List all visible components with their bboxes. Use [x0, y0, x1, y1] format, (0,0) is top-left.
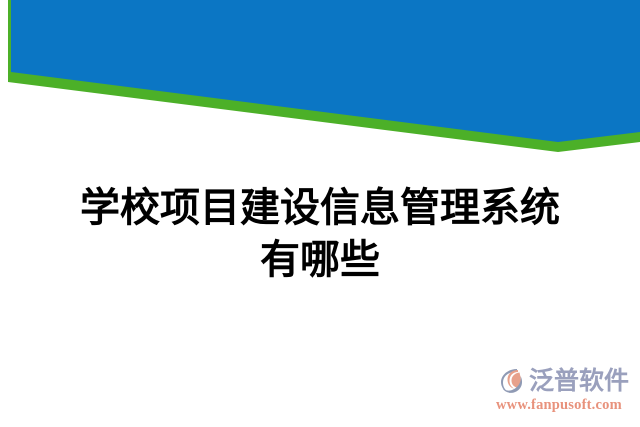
title-line-2: 有哪些	[0, 234, 640, 286]
page-title: 学校项目建设信息管理系统 有哪些	[0, 182, 640, 286]
brand-logo: 泛普软件 www.fanpusoft.com	[494, 359, 634, 419]
angled-banner	[0, 0, 640, 160]
brand-url: www.fanpusoft.com	[496, 397, 622, 414]
fanpu-swoosh-icon	[494, 366, 526, 396]
slide-canvas: 学校项目建设信息管理系统 有哪些 泛普软件 www.fanpusoft.com	[0, 0, 640, 427]
brand-name: 泛普软件	[529, 366, 629, 396]
title-line-1: 学校项目建设信息管理系统	[0, 182, 640, 234]
brand-logo-row: 泛普软件	[494, 365, 629, 397]
